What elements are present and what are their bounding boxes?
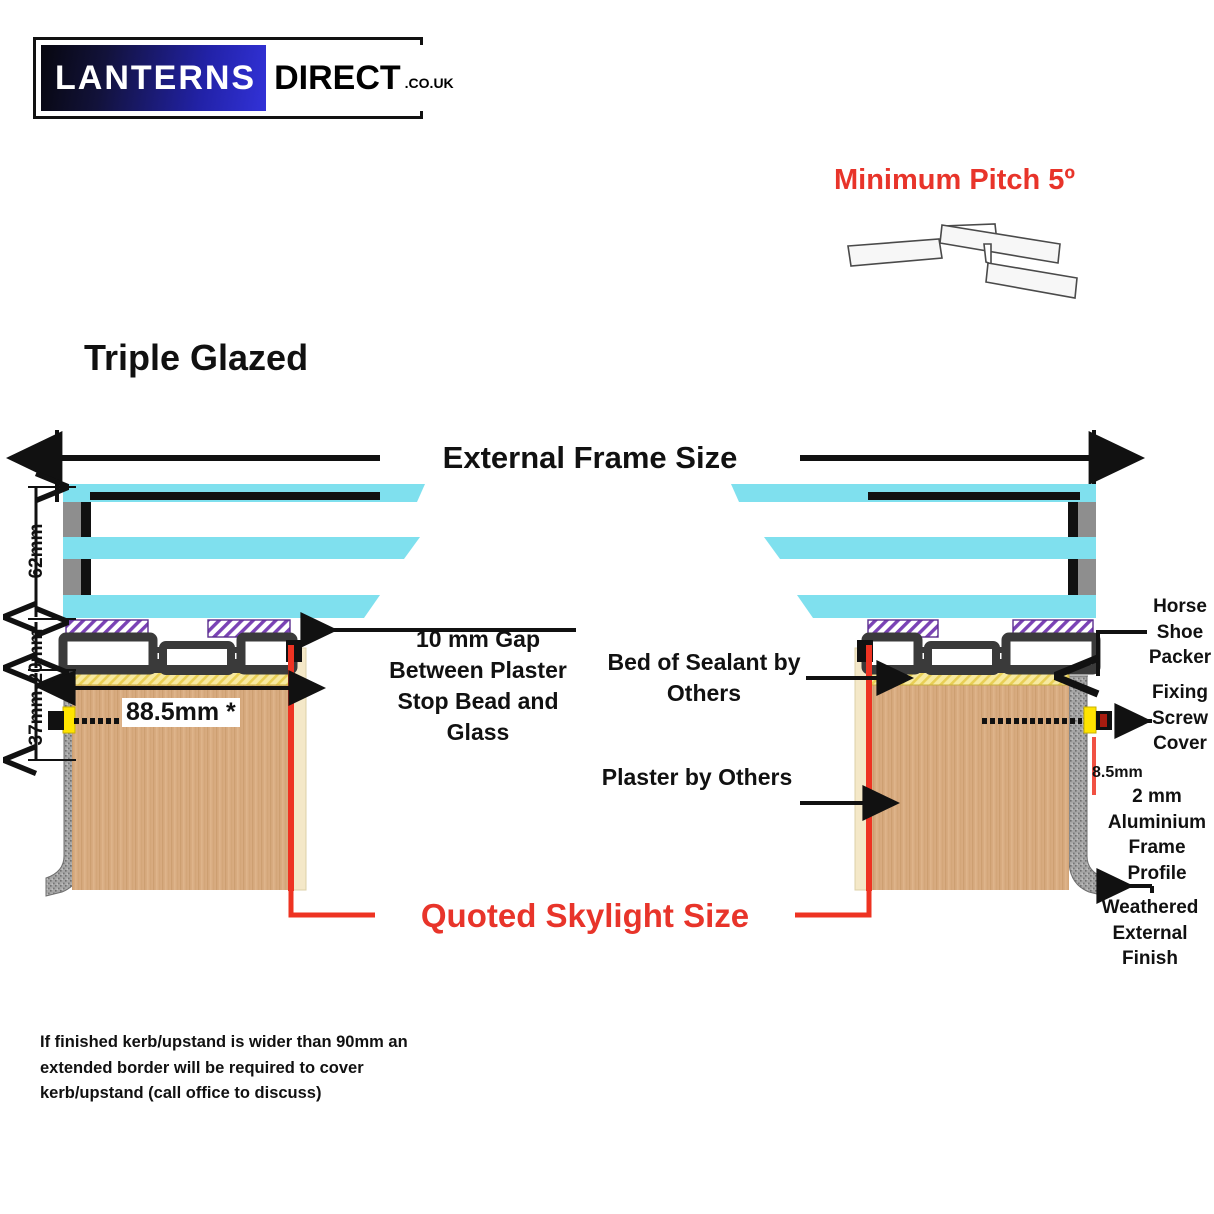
external-frame-size-label: External Frame Size (380, 437, 800, 479)
glass-edge-line-left (90, 492, 380, 500)
horse-shoe-packer-left (63, 707, 75, 733)
fixing-screw-cover-label: Fixing Screw Cover (1134, 680, 1214, 757)
weathered-finish-label: Weathered External Finish (1090, 895, 1210, 972)
glass-pane-inner-left (63, 595, 380, 618)
aluminium-frame-profile-right (866, 637, 1096, 673)
aluminium-profile-label: 2 mm Aluminium Frame Profile (1097, 784, 1214, 887)
gap-callout-label: 10 mm Gap Between Plaster Stop Bead and … (366, 624, 590, 748)
quoted-skylight-size-label: Quoted Skylight Size (375, 897, 795, 935)
fixing-screw-cover-left (48, 711, 64, 730)
plaster-callout-label: Plaster by Others (600, 762, 794, 793)
diagram-canvas: LANTERNS DIRECT .CO.UK Minimum Pitch 5º … (0, 0, 1214, 1214)
horse-shoe-packer-right (1084, 707, 1096, 733)
fixing-screw-head-right (1100, 714, 1107, 727)
frame-depth-label: 20mm (26, 626, 48, 686)
kerb-footnote: If finished kerb/upstand is wider than 9… (40, 1030, 440, 1107)
kerb-width-label: 88.5mm * (122, 698, 240, 727)
frame-edge-dimension-label: 8.5mm (1092, 762, 1164, 784)
glass-edge-line-right (868, 492, 1080, 500)
sealant-callout-label: Bed of Sealant by Others (594, 647, 814, 709)
glass-pane-middle-right (764, 537, 1096, 559)
kerb-depth-label: 37mm (26, 688, 48, 748)
glass-pane-inner-right (797, 595, 1096, 618)
wooden-kerb-right (869, 672, 1069, 890)
horse-shoe-packer-label: Horse Shoe Packer (1134, 594, 1214, 671)
glass-pane-middle-left (63, 537, 420, 559)
aluminium-frame-profile-left (63, 637, 293, 673)
quoted-size-line-right (866, 645, 872, 891)
quoted-size-line-left (288, 645, 294, 891)
glass-depth-label: 62mm (26, 521, 48, 581)
